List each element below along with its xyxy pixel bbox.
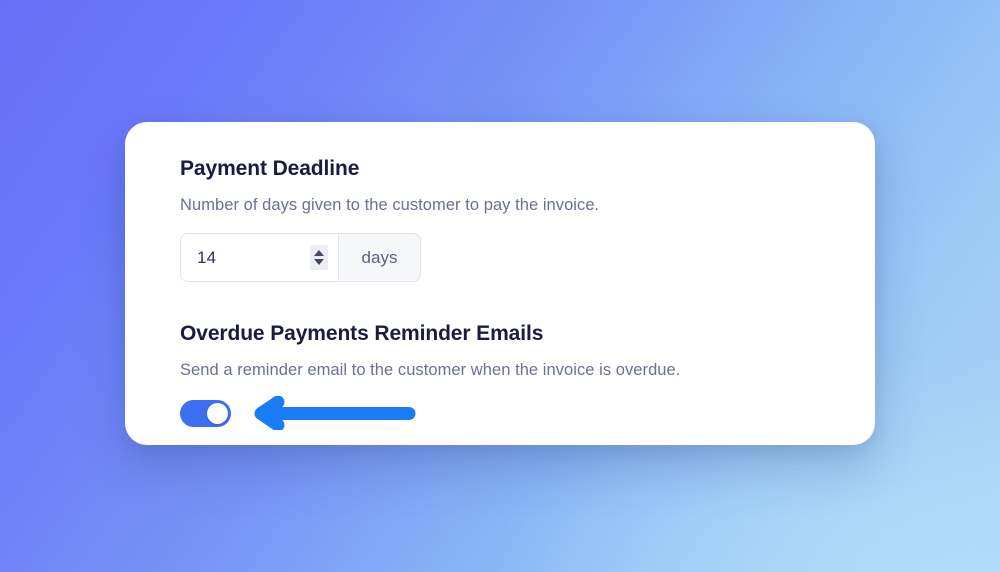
app-background: Payment Deadline Number of days given to… xyxy=(0,0,1000,572)
payment-deadline-stepper[interactable] xyxy=(310,245,328,270)
section-overdue-reminder: Overdue Payments Reminder Emails Send a … xyxy=(180,321,835,427)
overdue-reminder-description: Send a reminder email to the customer wh… xyxy=(180,359,835,381)
payment-deadline-input[interactable]: 14 xyxy=(180,233,339,282)
payment-deadline-field-row: 14 days xyxy=(180,233,421,282)
section-payment-deadline: Payment Deadline Number of days given to… xyxy=(180,156,835,282)
payment-deadline-description: Number of days given to the customer to … xyxy=(180,194,835,216)
toggle-knob xyxy=(207,403,228,424)
triangle-down-icon[interactable] xyxy=(314,259,324,265)
triangle-up-icon[interactable] xyxy=(314,250,324,256)
payment-deadline-unit-suffix: days xyxy=(339,233,421,282)
arrow-left-icon xyxy=(254,396,416,430)
annotation-arrow xyxy=(254,396,416,430)
overdue-reminder-heading: Overdue Payments Reminder Emails xyxy=(180,321,835,347)
overdue-reminder-control-row xyxy=(180,399,835,427)
settings-card: Payment Deadline Number of days given to… xyxy=(125,122,875,445)
payment-deadline-value[interactable]: 14 xyxy=(197,249,310,266)
payment-deadline-heading: Payment Deadline xyxy=(180,156,835,182)
overdue-reminder-toggle[interactable] xyxy=(180,400,231,427)
